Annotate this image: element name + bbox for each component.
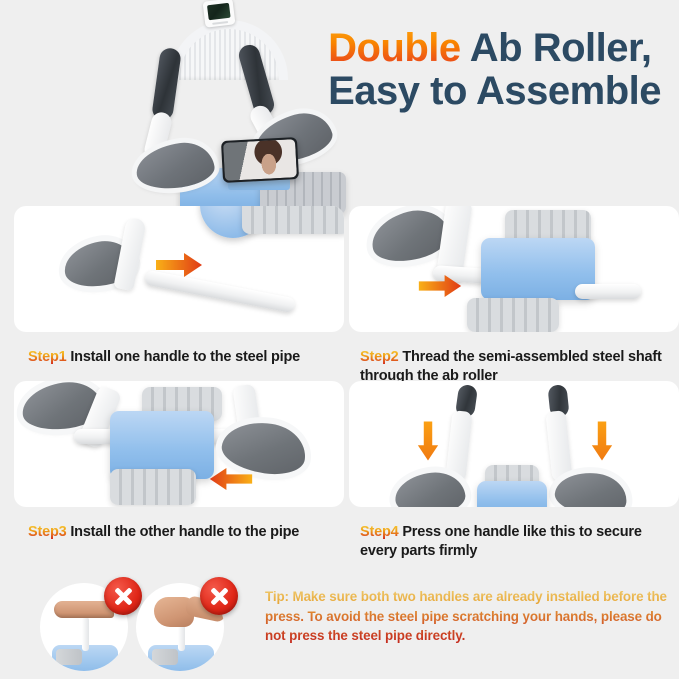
roller-tread-bottom	[110, 469, 196, 505]
step-1-illustration	[14, 206, 344, 332]
title-line-2: Easy to Assemble	[328, 71, 661, 112]
step-1-caption: Step1 Install one handle to the steel pi…	[28, 348, 344, 367]
product-illustration	[118, 0, 353, 221]
handle-grip-left	[151, 47, 182, 121]
step-4-label: Step4	[360, 524, 399, 540]
tip-text: Tip: Make sure both two handles are alre…	[265, 587, 669, 646]
step-3-illustration	[14, 381, 344, 507]
title-highlight: Double	[328, 26, 461, 70]
step-3-caption: Step3 Install the other handle to the pi…	[28, 523, 344, 542]
phone-screen	[221, 137, 299, 183]
step-2-illustration	[349, 206, 679, 332]
red-x-icon-1	[104, 577, 142, 615]
steel-pipe	[82, 617, 89, 651]
blue-roller-body	[477, 481, 547, 507]
step-3-text: Install the other handle to the pipe	[67, 524, 300, 540]
lcd-counter-icon	[203, 0, 236, 28]
spring-arch	[170, 20, 288, 80]
title-rest: Ab Roller,	[461, 26, 652, 70]
step-4-caption: Step4 Press one handle like this to secu…	[360, 523, 674, 561]
hero-section: Double Ab Roller, Easy to Assemble	[0, 0, 679, 200]
arrow-right-icon	[154, 252, 204, 278]
step-1-panel	[14, 206, 344, 332]
step-1-label: Step1	[28, 349, 67, 365]
step-2-panel	[349, 206, 679, 332]
page-title: Double Ab Roller, Easy to Assemble	[328, 28, 661, 112]
roller-tread-bottom	[467, 298, 559, 332]
step-4-illustration	[349, 381, 679, 507]
arrow-down-icon-left	[417, 417, 439, 465]
steel-pipe-right	[575, 284, 641, 299]
step-1-text: Install one handle to the steel pipe	[67, 349, 301, 365]
arrow-left-icon	[208, 467, 254, 491]
step-3-panel	[14, 381, 344, 507]
step-4-panel	[349, 381, 679, 507]
handle-arm-right	[545, 410, 572, 482]
step-2-text: Thread the semi-assembled steel shaft th…	[360, 349, 662, 384]
warning-section: Tip: Make sure both two handles are alre…	[0, 575, 679, 679]
arrow-down-icon-right	[591, 417, 613, 465]
step-3-label: Step3	[28, 524, 67, 540]
arrow-right-icon	[417, 274, 463, 298]
roller-tread	[242, 206, 344, 234]
step-2-label: Step2	[360, 349, 399, 365]
step-4-text: Press one handle like this to secure eve…	[360, 524, 642, 559]
red-x-icon-2	[200, 577, 238, 615]
handle-arm-left	[445, 410, 472, 482]
